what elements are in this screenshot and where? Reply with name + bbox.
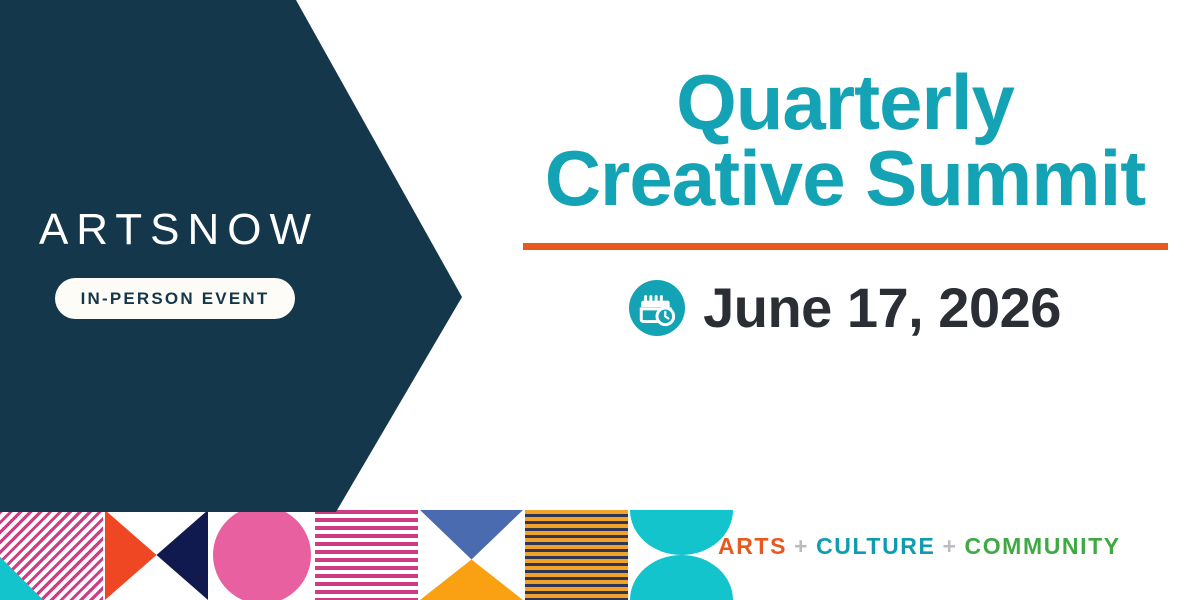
wordmark-now: NOW: [188, 205, 320, 254]
in-person-event-badge: IN-PERSON EVENT: [55, 278, 296, 319]
wordmark-arts: ARTS: [39, 205, 188, 254]
orange-divider-rule: [523, 243, 1168, 250]
event-date-row: June 17, 2026: [500, 280, 1190, 336]
title-line-1: Quarterly: [500, 64, 1190, 140]
tagline-separator-1: +: [787, 533, 816, 559]
page-title: Quarterly Creative Summit: [500, 64, 1190, 217]
event-banner: ARTSNOW IN-PERSON EVENT Quarterly Creati…: [0, 0, 1200, 600]
event-content: Quarterly Creative Summit June: [500, 64, 1190, 336]
event-date: June 17, 2026: [703, 280, 1061, 336]
tagline-separator-2: +: [935, 533, 964, 559]
pink-circle-shape: [213, 510, 311, 600]
calendar-clock-icon: [629, 280, 685, 336]
brand-logo-lockup: ARTSNOW IN-PERSON EVENT: [0, 208, 350, 319]
pattern-tile-horizontal-pink-stripes: [315, 510, 418, 600]
teal-corner-triangle: [0, 510, 103, 600]
title-line-2: Creative Summit: [500, 140, 1190, 216]
tagline-word-arts: ARTS: [718, 533, 787, 559]
pattern-tile-orange-navy-bowtie: [105, 510, 208, 600]
tagline: ARTS+CULTURE+COMMUNITY: [718, 533, 1121, 560]
pattern-tile-pink-circle: [210, 510, 313, 600]
pattern-tile-strip: [0, 510, 733, 600]
pattern-tile-blue-amber-triangles: [420, 510, 523, 600]
pattern-tile-diagonal-pink-stripes: [0, 510, 103, 600]
brand-wordmark: ARTSNOW: [0, 208, 350, 252]
tagline-word-community: COMMUNITY: [964, 533, 1120, 559]
teal-bottom-semicircle: [630, 555, 733, 600]
tagline-word-culture: CULTURE: [816, 533, 935, 559]
pattern-tile-amber-navy-stripes: [525, 510, 628, 600]
